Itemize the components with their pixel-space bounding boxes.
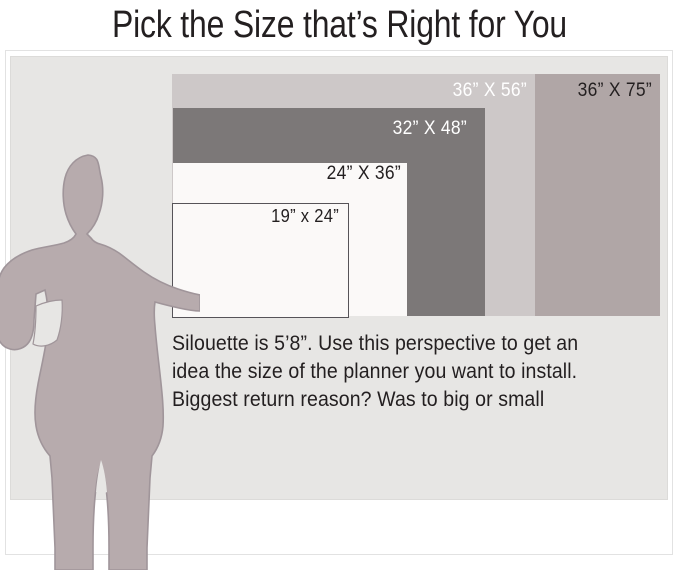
size-rect-36x56[interactable] xyxy=(490,74,535,316)
caption-line-3: Biggest return reason? Was to big or sma… xyxy=(172,386,628,414)
size-rect-36x75[interactable] xyxy=(535,74,660,316)
caption-block: Silouette is 5’8”. Use this perspective … xyxy=(172,330,628,414)
size-comparison-infographic: Pick the Size that’s Right for You 36” X… xyxy=(0,0,679,570)
caption-line-2: idea the size of the planner you want to… xyxy=(172,358,628,386)
size-label-24x36: 24” X 36” xyxy=(179,163,401,185)
caption-line-1: Silouette is 5’8”. Use this perspective … xyxy=(172,330,628,358)
size-label-32x48: 32” X 48” xyxy=(240,118,467,140)
size-label-36x56: 36” X 56” xyxy=(300,80,527,102)
page-title: Pick the Size that’s Right for You xyxy=(54,0,624,50)
size-label-19x24: 19” x 24” xyxy=(138,206,339,227)
